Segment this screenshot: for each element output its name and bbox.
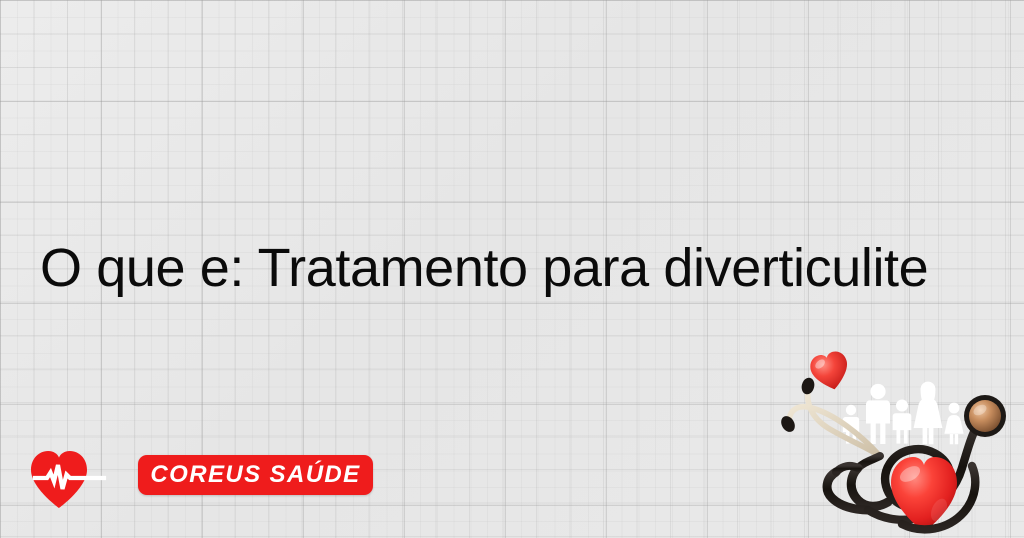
heart-pulse-icon [28,446,150,510]
brand-name-pill[interactable]: COREUS SAÚDE [138,455,373,495]
page-title: O que e: Tratamento para diverticulite [40,236,1000,300]
brand-logo[interactable]: COREUS SAÚDE [28,446,358,512]
slide-canvas: O que e: Tratamento para diverticulite C… [0,0,1024,538]
brand-name-label: COREUS SAÚDE [138,461,373,489]
medical-illustration [776,348,1024,538]
heart-icon-small [808,349,853,394]
